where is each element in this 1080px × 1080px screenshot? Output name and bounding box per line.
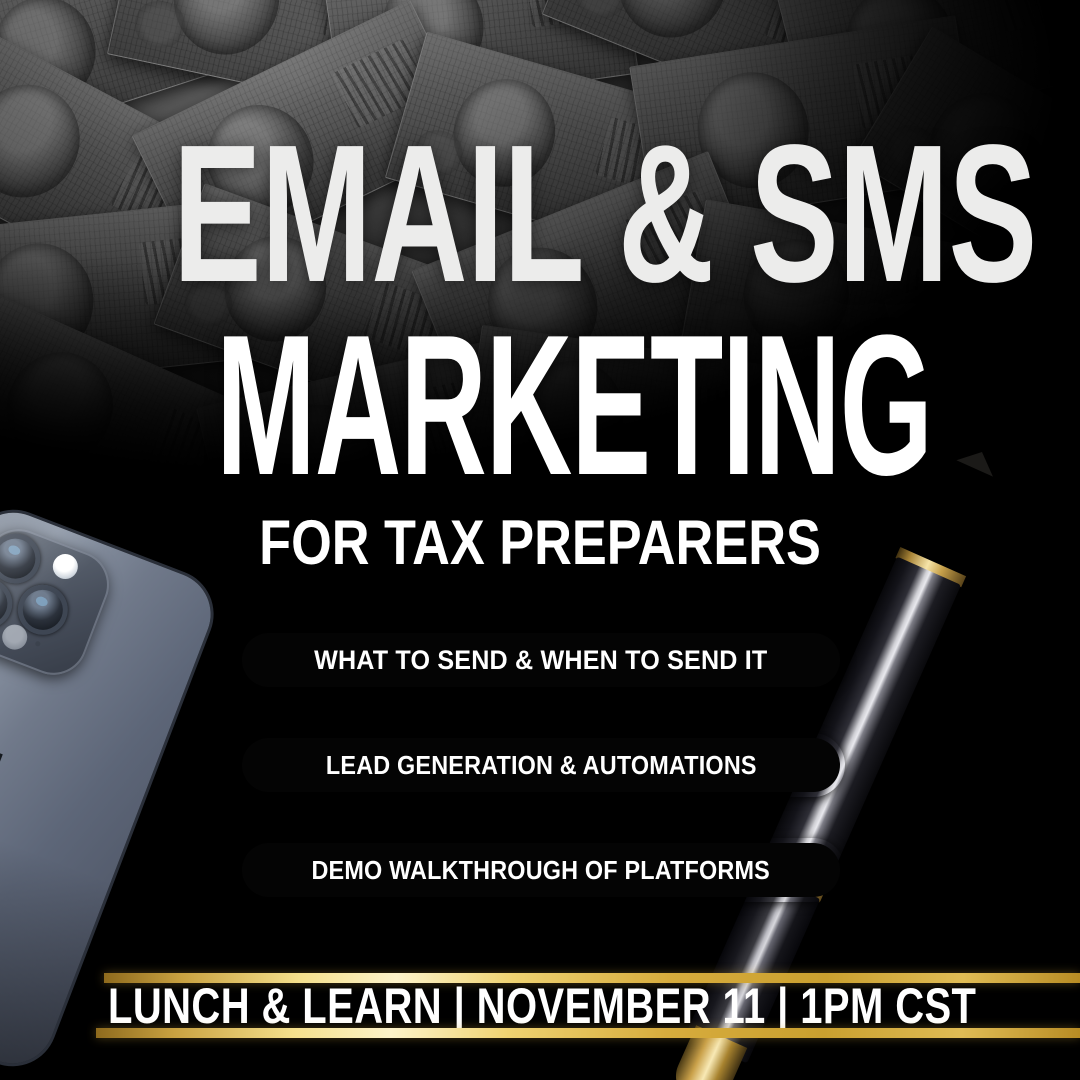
topic-pill: LEAD GENERATION & AUTOMATIONS (237, 733, 845, 797)
topic-pill: WHAT TO SEND & WHEN TO SEND IT (237, 628, 845, 692)
topic-pill: DEMO WALKTHROUGH OF PLATFORMS (237, 838, 845, 902)
event-banner: LUNCH & LEARN | NOVEMBER 11 | 1PM CST (0, 960, 1080, 1052)
banner-text: LUNCH & LEARN | NOVEMBER 11 | 1PM CST (108, 978, 972, 1034)
banner-gold-rule-bottom (96, 1028, 1080, 1038)
headline-subtitle: FOR TAX PREPARERS (92, 512, 988, 575)
promo-flyer:  EMAIL & SMS MARKETING FOR TAX PREPARER… (0, 0, 1080, 1080)
topic-pill-label: WHAT TO SEND & WHEN TO SEND IT (314, 645, 767, 676)
topic-pill-label: DEMO WALKTHROUGH OF PLATFORMS (312, 855, 770, 886)
headline-line-1: EMAIL & SMS (173, 116, 907, 312)
topic-pill-inner: WHAT TO SEND & WHEN TO SEND IT (242, 633, 840, 687)
topic-pill-label: LEAD GENERATION & AUTOMATIONS (326, 750, 757, 781)
headline-line-2: MARKETING (216, 306, 864, 506)
topic-pill-inner: LEAD GENERATION & AUTOMATIONS (242, 738, 840, 792)
topic-list: WHAT TO SEND & WHEN TO SEND IT LEAD GENE… (237, 628, 845, 943)
topic-pill-inner: DEMO WALKTHROUGH OF PLATFORMS (242, 843, 840, 897)
